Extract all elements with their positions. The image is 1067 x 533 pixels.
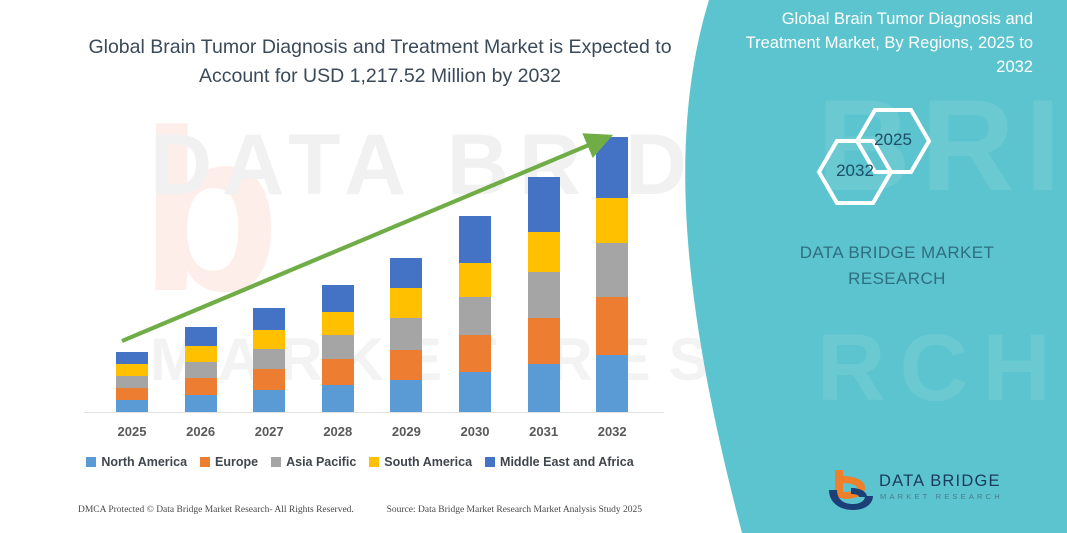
bar-segment-europe [596, 297, 628, 355]
brand-name: DATA BRIDGE MARKET RESEARCH [767, 240, 1027, 293]
chart-plot-area: 20252026202720282029203020312032 [0, 0, 720, 440]
side-panel: BRI RCH Global Brain Tumor Diagnosis and… [667, 0, 1067, 533]
bar-2030 [459, 216, 491, 412]
x-axis-label-2027: 2027 [239, 424, 299, 439]
legend-label: Europe [215, 455, 258, 469]
bar-segment-middle-east-and-africa [459, 216, 491, 263]
legend-item-asia-pacific[interactable]: Asia Pacific [271, 455, 356, 469]
bar-segment-asia-pacific [390, 318, 422, 350]
bar-segment-north-america [185, 395, 217, 412]
bar-segment-north-america [390, 380, 422, 412]
bar-2025 [116, 352, 148, 412]
logo-tagline: MARKET RESEARCH [880, 492, 1003, 501]
bar-segment-south-america [322, 312, 354, 335]
bar-segment-middle-east-and-africa [528, 177, 560, 232]
bar-segment-europe [528, 318, 560, 364]
bar-segment-north-america [322, 385, 354, 412]
bar-segment-asia-pacific [528, 272, 560, 318]
bar-segment-north-america [116, 400, 148, 412]
bar-segment-asia-pacific [459, 297, 491, 335]
bar-segment-north-america [459, 372, 491, 412]
x-axis-label-2026: 2026 [171, 424, 231, 439]
bar-2031 [528, 177, 560, 412]
legend-item-europe[interactable]: Europe [200, 455, 258, 469]
bar-segment-middle-east-and-africa [253, 308, 285, 330]
legend-item-north-america[interactable]: North America [86, 455, 187, 469]
legend-swatch-icon [369, 457, 379, 467]
bar-segment-south-america [185, 346, 217, 362]
bar-segment-asia-pacific [185, 362, 217, 378]
bar-2029 [390, 258, 422, 412]
bar-segment-europe [390, 350, 422, 380]
bar-segment-south-america [596, 198, 628, 243]
legend-label: Asia Pacific [286, 455, 356, 469]
bar-2028 [322, 285, 354, 412]
legend-label: Middle East and Africa [500, 455, 634, 469]
bar-segment-middle-east-and-africa [116, 352, 148, 364]
panel-title: Global Brain Tumor Diagnosis and Treatme… [733, 8, 1033, 80]
bar-segment-asia-pacific [322, 335, 354, 359]
bar-segment-middle-east-and-africa [185, 327, 217, 346]
logo-name: DATA BRIDGE [879, 472, 1001, 491]
logo-mark-icon [827, 468, 879, 516]
bar-segment-south-america [390, 288, 422, 318]
x-axis-line [84, 412, 664, 413]
bar-segment-south-america [253, 330, 285, 349]
bar-segment-asia-pacific [596, 243, 628, 297]
svg-text:BRI: BRI [817, 72, 1067, 218]
legend-swatch-icon [271, 457, 281, 467]
footer: DMCA Protected © Data Bridge Market Rese… [0, 505, 720, 515]
x-axis-label-2025: 2025 [102, 424, 162, 439]
bar-segment-europe [116, 388, 148, 400]
chart-legend: North AmericaEuropeAsia PacificSouth Ame… [0, 455, 720, 469]
x-axis-label-2030: 2030 [445, 424, 505, 439]
bar-segment-north-america [253, 390, 285, 412]
legend-swatch-icon [485, 457, 495, 467]
bar-segment-middle-east-and-africa [596, 137, 628, 198]
legend-label: South America [384, 455, 472, 469]
legend-swatch-icon [86, 457, 96, 467]
x-axis-label-2032: 2032 [582, 424, 642, 439]
legend-item-south-america[interactable]: South America [369, 455, 472, 469]
bar-segment-middle-east-and-africa [322, 285, 354, 312]
legend-item-middle-east-and-africa[interactable]: Middle East and Africa [485, 455, 634, 469]
footer-source: Source: Data Bridge Market Research Mark… [387, 505, 642, 515]
legend-swatch-icon [200, 457, 210, 467]
bar-segment-asia-pacific [116, 376, 148, 388]
footer-copyright: DMCA Protected © Data Bridge Market Rese… [78, 505, 354, 515]
infographic-root: b DATA BRIDGE MARKET RESEARCH Global Bra… [0, 0, 1067, 533]
svg-text:RCH: RCH [817, 315, 1065, 421]
bar-segment-europe [185, 378, 217, 395]
bar-segment-europe [253, 369, 285, 390]
bar-segment-north-america [596, 355, 628, 412]
bar-segment-middle-east-and-africa [390, 258, 422, 288]
bar-segment-europe [322, 359, 354, 385]
x-axis-label-2029: 2029 [376, 424, 436, 439]
bar-segment-south-america [528, 232, 560, 272]
bar-segment-north-america [528, 364, 560, 412]
x-axis-label-2028: 2028 [308, 424, 368, 439]
legend-label: North America [101, 455, 187, 469]
bar-segment-south-america [459, 263, 491, 297]
bar-2027 [253, 308, 285, 412]
bar-2026 [185, 327, 217, 412]
bar-segment-asia-pacific [253, 349, 285, 369]
company-logo: DATA BRIDGE MARKET RESEARCH [827, 468, 1037, 520]
x-axis-label-2031: 2031 [514, 424, 574, 439]
bar-segment-europe [459, 335, 491, 372]
bar-2032 [596, 137, 628, 412]
bar-segment-south-america [116, 364, 148, 376]
